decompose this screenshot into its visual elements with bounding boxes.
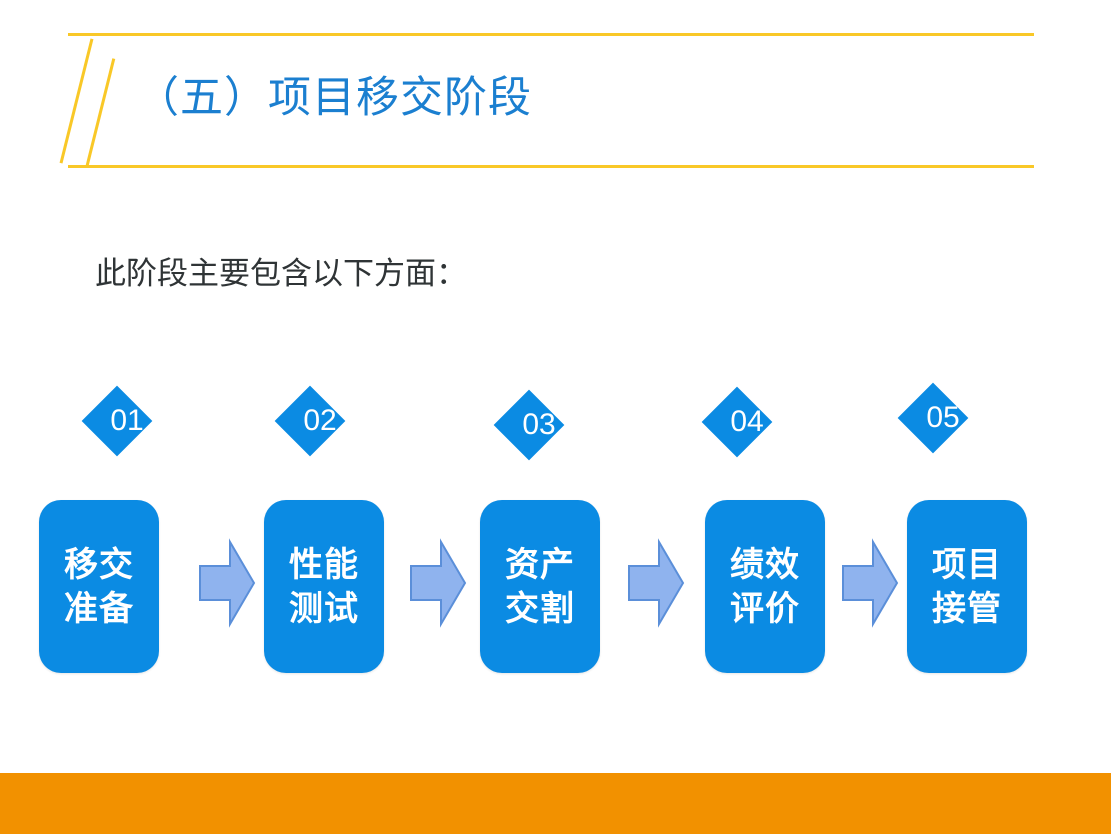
arrow-right-icon-4 <box>841 538 899 628</box>
stage-box-1[interactable]: 移交 准备 <box>39 500 159 673</box>
stage-box-label-2: 性能 测试 <box>289 543 359 631</box>
title-slash-inner-icon <box>86 58 116 165</box>
stage-badge-05 <box>898 383 969 454</box>
stage-badge-label-04: 04 <box>707 407 787 437</box>
stage-box-label-1: 移交 准备 <box>64 543 134 631</box>
stage-box-label-4: 绩效 评价 <box>730 543 800 631</box>
stage-badge-label-05: 05 <box>903 403 983 433</box>
lead-in-text: 此阶段主要包含以下方面： <box>95 252 467 296</box>
stage-box-2[interactable]: 性能 测试 <box>264 500 384 673</box>
stage-badge-04 <box>702 387 773 458</box>
stage-box-5[interactable]: 项目 接管 <box>907 500 1027 673</box>
page-title: （五）项目移交阶段 <box>136 68 532 130</box>
stage-badge-label-02: 02 <box>280 406 360 436</box>
arrow-right-icon-2 <box>409 538 467 628</box>
title-rule-top <box>68 33 1034 36</box>
stage-box-3[interactable]: 资产 交割 <box>480 500 600 673</box>
stage-badge-label-01: 01 <box>87 406 167 436</box>
arrow-right-icon-3 <box>627 538 685 628</box>
stage-badge-label-03: 03 <box>499 410 579 440</box>
footer-accent-bar <box>0 773 1111 834</box>
stage-badge-01 <box>82 386 153 457</box>
stage-badge-03 <box>494 390 565 461</box>
arrow-right-icon-1 <box>198 538 256 628</box>
stage-box-4[interactable]: 绩效 评价 <box>705 500 825 673</box>
stage-box-label-3: 资产 交割 <box>505 543 575 631</box>
stage-box-label-5: 项目 接管 <box>932 543 1002 631</box>
stage-badge-02 <box>275 386 346 457</box>
slide-canvas: （五）项目移交阶段 此阶段主要包含以下方面： 01 02 03 04 05 移交… <box>0 0 1111 834</box>
title-slash-outer-icon <box>60 39 94 164</box>
title-rule-bottom <box>68 165 1034 168</box>
